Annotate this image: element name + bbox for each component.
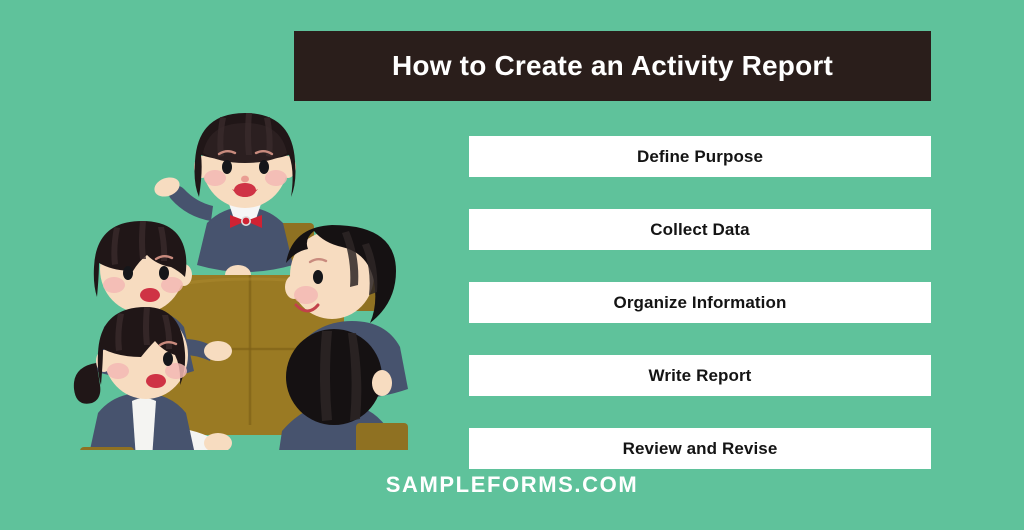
brand-label: SAMPLEFORMS.COM xyxy=(386,472,639,497)
title-banner: How to Create an Activity Report xyxy=(294,31,931,101)
footer: SAMPLEFORMS.COM xyxy=(0,472,1024,498)
page-title: How to Create an Activity Report xyxy=(392,51,833,82)
step-label: Define Purpose xyxy=(637,147,763,167)
step-label: Review and Revise xyxy=(623,439,778,459)
step-item[interactable]: Write Report xyxy=(469,355,931,396)
step-item[interactable]: Define Purpose xyxy=(469,136,931,177)
step-item[interactable]: Collect Data xyxy=(469,209,931,250)
step-item[interactable]: Organize Information xyxy=(469,282,931,323)
students-meeting-illustration xyxy=(70,105,415,450)
step-item[interactable]: Review and Revise xyxy=(469,428,931,469)
step-label: Write Report xyxy=(649,366,752,386)
step-label: Collect Data xyxy=(650,220,749,240)
steps-list: Define Purpose Collect Data Organize Inf… xyxy=(469,136,931,469)
infographic-canvas: How to Create an Activity Report xyxy=(0,0,1024,530)
step-label: Organize Information xyxy=(614,293,787,313)
